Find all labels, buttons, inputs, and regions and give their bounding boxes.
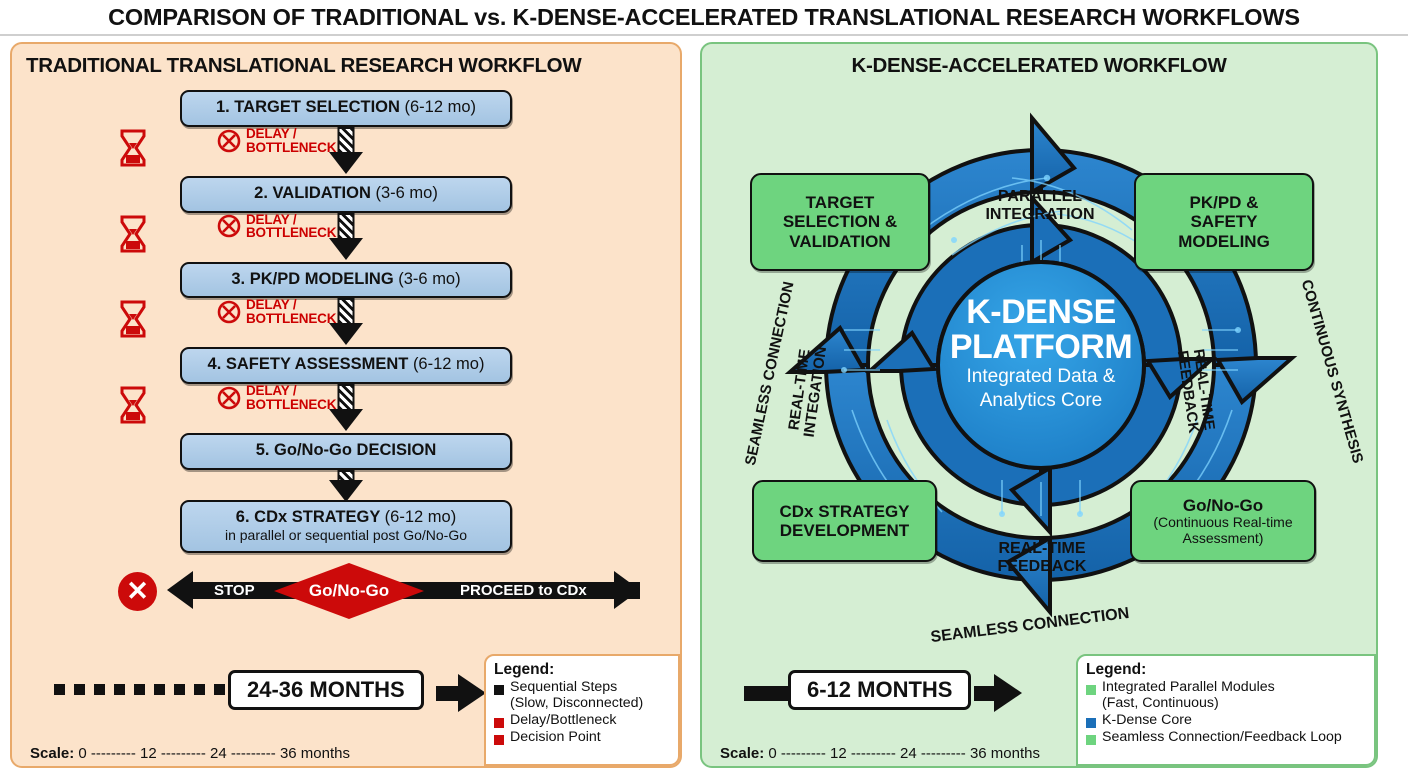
module-title: CDx STRATEGYDEVELOPMENT [779, 502, 909, 540]
step-2-duration: (3-6 mo) [376, 184, 438, 202]
delay-label-line2: BOTTLENECK [246, 312, 336, 326]
step-1-duration: (6-12 mo) [405, 98, 477, 116]
delay-bottleneck-marker-4: DELAY / BOTTLENECK [217, 384, 336, 412]
proceed-label: PROCEED to CDx [460, 582, 587, 599]
delay-label-line1: DELAY / [246, 384, 336, 398]
delay-label-line2: BOTTLENECK [246, 141, 336, 155]
module-title: PK/PD &SAFETYMODELING [1178, 193, 1270, 250]
stop-label: STOP [214, 582, 255, 599]
delay-bottleneck-marker-1: DELAY / BOTTLENECK [217, 127, 336, 155]
decision-diamond-label: Go/No-Go [309, 581, 389, 601]
step-2-number: 2. [254, 184, 268, 202]
step-3-name: PK/PD MODELING [250, 270, 394, 288]
legend-item-kdense-core: K-Dense Core [1086, 713, 1368, 729]
delay-connector-4: DELAY / BOTTLENECK [12, 384, 680, 433]
legend-item-sublabel: (Fast, Continuous) [1102, 695, 1219, 711]
kdense-panel-heading: K-DENSE-ACCELERATED WORKFLOW [702, 44, 1376, 78]
step-1-target-selection[interactable]: 1. TARGET SELECTION (6-12 mo) [180, 90, 512, 127]
legend-swatch-icon [494, 735, 504, 745]
delay-connector-3: DELAY / BOTTLENECK [12, 298, 680, 347]
step-5-number: 5. [256, 441, 270, 459]
ring-label-real-time-feedback-bottom: REAL-TIMEFEEDBACK [957, 540, 1127, 575]
arrow-head-icon [329, 152, 363, 174]
step-6-number: 6. [236, 508, 250, 526]
step-3-pkpd-modeling[interactable]: 3. PK/PD MODELING (3-6 mo) [180, 262, 512, 299]
scale-text: 0 --------- 12 --------- 24 --------- 36… [78, 745, 350, 762]
traditional-workflow-panel: TRADITIONAL TRANSLATIONAL RESEARCH WORKF… [10, 42, 682, 768]
legend-swatch-icon [1086, 735, 1096, 745]
module-go-nogo-continuous[interactable]: Go/No-Go (Continuous Real-timeAssessment… [1130, 480, 1316, 562]
step-6-subtitle: in parallel or sequential post Go/No-Go [186, 528, 506, 543]
timeline-arrow-head-icon [994, 674, 1022, 712]
traditional-steps-list: 1. TARGET SELECTION (6-12 mo) DELAY / BO… [12, 90, 680, 553]
ring-label-parallel-integration: PARALLELINTEGRATION [950, 188, 1130, 223]
arrow-head-icon [329, 323, 363, 345]
legend-swatch-icon [1086, 718, 1096, 728]
page-title: COMPARISON OF TRADITIONAL vs. K-DENSE-AC… [108, 4, 1300, 31]
step-2-validation[interactable]: 2. VALIDATION (3-6 mo) [180, 176, 512, 213]
traditional-panel-heading: TRADITIONAL TRANSLATIONAL RESEARCH WORKF… [12, 44, 680, 78]
step-4-number: 4. [208, 355, 222, 373]
legend-item-label: K-Dense Core [1102, 713, 1192, 729]
timeline-arrow-shaft-left [744, 686, 790, 701]
timeline-arrow-shaft-right [974, 686, 996, 701]
hourglass-icon [120, 215, 146, 260]
x-circle-icon: ✕ [118, 572, 157, 611]
step-1-name: TARGET SELECTION [234, 98, 400, 116]
title-bar: COMPARISON OF TRADITIONAL vs. K-DENSE-AC… [0, 0, 1408, 36]
legend-item-seamless-connection: Seamless Connection/Feedback Loop [1086, 730, 1368, 746]
scale-prefix: Scale: [30, 745, 74, 762]
scale-text: 0 --------- 12 --------- 24 --------- 36… [768, 745, 1040, 762]
traditional-scale: Scale: 0 --------- 12 --------- 24 -----… [30, 745, 350, 762]
step-4-name: SAFETY ASSESSMENT [226, 355, 408, 373]
delay-bottleneck-marker-2: DELAY / BOTTLENECK [217, 213, 336, 241]
module-pkpd-safety-modeling[interactable]: PK/PD &SAFETYMODELING [1134, 173, 1314, 271]
traditional-legend: Legend: Sequential Steps (Slow, Disconne… [484, 654, 680, 766]
bottleneck-x-icon [217, 300, 241, 324]
step-6-cdx-strategy[interactable]: 6. CDx STRATEGY (6-12 mo) in parallel or… [180, 500, 512, 553]
legend-item-integrated-parallel-modules: Integrated Parallel Modules (Fast, Conti… [1086, 680, 1368, 712]
delay-label-line2: BOTTLENECK [246, 226, 336, 240]
arrow-head-icon [329, 480, 363, 502]
connector-5 [12, 470, 680, 500]
legend-item-label: Seamless Connection/Feedback Loop [1102, 730, 1342, 746]
kdense-duration-badge: 6-12 MONTHS [788, 670, 971, 710]
timeline-arrow-head-icon [458, 674, 486, 712]
module-title: TARGETSELECTION &VALIDATION [783, 193, 897, 250]
step-5-name: Go/No-Go DECISION [274, 441, 436, 459]
legend-item-label: Integrated Parallel Modules [1102, 679, 1275, 695]
legend-swatch-icon [494, 718, 504, 728]
legend-heading: Legend: [1086, 661, 1368, 679]
hourglass-icon [120, 300, 146, 345]
delay-label-line1: DELAY / [246, 298, 336, 312]
kdense-circular-hub: K-DENSE PLATFORM Integrated Data & Analy… [702, 80, 1380, 660]
step-2-name: VALIDATION [273, 184, 371, 202]
panels-container: TRADITIONAL TRANSLATIONAL RESEARCH WORKF… [0, 36, 1408, 768]
delay-connector-1: DELAY / BOTTLENECK [12, 127, 680, 176]
legend-item-label: Sequential Steps [510, 679, 617, 695]
step-6-name: CDx STRATEGY [254, 508, 380, 526]
module-target-selection-validation[interactable]: TARGETSELECTION &VALIDATION [750, 173, 930, 271]
module-cdx-strategy-development[interactable]: CDx STRATEGYDEVELOPMENT [752, 480, 937, 562]
delay-label-line2: BOTTLENECK [246, 398, 336, 412]
step-6-duration: (6-12 mo) [385, 508, 457, 526]
legend-item-label: Delay/Bottleneck [510, 713, 616, 729]
module-title: Go/No-Go [1183, 496, 1263, 515]
legend-heading: Legend: [494, 661, 672, 679]
proceed-arrow-head-icon [614, 571, 640, 609]
traditional-duration-badge: 24-36 MONTHS [228, 670, 424, 710]
step-4-safety-assessment[interactable]: 4. SAFETY ASSESSMENT (6-12 mo) [180, 347, 512, 384]
module-subtitle: (Continuous Real-timeAssessment) [1153, 515, 1292, 546]
step-3-duration: (3-6 mo) [398, 270, 460, 288]
legend-item-decision-point: Decision Point [494, 730, 672, 746]
scale-prefix: Scale: [720, 745, 764, 762]
legend-swatch-icon [494, 685, 504, 695]
delay-label-line1: DELAY / [246, 127, 336, 141]
arrow-head-icon [329, 409, 363, 431]
kdense-legend: Legend: Integrated Parallel Modules (Fas… [1076, 654, 1376, 766]
legend-item-delay-bottleneck: Delay/Bottleneck [494, 713, 672, 729]
step-1-number: 1. [216, 98, 230, 116]
kdense-workflow-panel: K-DENSE-ACCELERATED WORKFLOW [700, 42, 1378, 768]
bottleneck-x-icon [217, 129, 241, 153]
legend-swatch-icon [1086, 685, 1096, 695]
arrow-head-icon [329, 238, 363, 260]
bottleneck-x-icon [217, 214, 241, 238]
kdense-core-circle [938, 262, 1144, 468]
step-3-number: 3. [231, 270, 245, 288]
legend-item-label: Decision Point [510, 730, 601, 746]
delay-label-line1: DELAY / [246, 213, 336, 227]
timeline-arrow-shaft [436, 686, 460, 701]
delay-bottleneck-marker-3: DELAY / BOTTLENECK [217, 298, 336, 326]
step-5-go-nogo-decision[interactable]: 5. Go/No-Go DECISION [180, 433, 512, 470]
hourglass-icon [120, 386, 146, 431]
delay-connector-2: DELAY / BOTTLENECK [12, 213, 680, 262]
step-4-duration: (6-12 mo) [413, 355, 485, 373]
stop-arrow-head-icon [167, 571, 193, 609]
bottleneck-x-icon [217, 386, 241, 410]
go-nogo-decision-row: ✕ STOP PROCEED to CDx Go/No-Go [12, 559, 680, 621]
decision-diamond[interactable]: Go/No-Go [274, 563, 424, 619]
hourglass-icon [120, 129, 146, 174]
kdense-scale: Scale: 0 --------- 12 --------- 24 -----… [720, 745, 1040, 762]
legend-item-sequential-steps: Sequential Steps (Slow, Disconnected) [494, 680, 672, 712]
legend-item-sublabel: (Slow, Disconnected) [510, 695, 643, 711]
